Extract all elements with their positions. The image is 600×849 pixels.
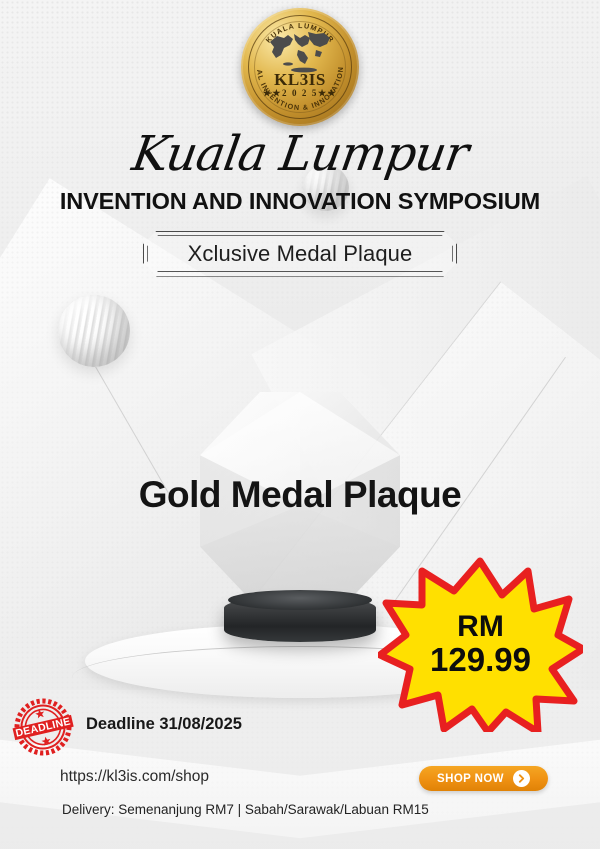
price-amount: 129.99 [430,643,531,678]
deadline-stamp-icon: DEADLINE [10,697,76,757]
script-title: Kuala Lumpur [0,132,600,178]
plaque-base [224,596,376,642]
price-currency: RM [457,612,504,642]
plaque-base-top [228,590,372,610]
chevron-right-icon [513,770,530,787]
shop-now-button[interactable]: SHOP NOW [419,766,548,791]
promotional-poster: KUALA LUMPUR INTERNATIONAL INVENTION & I… [0,0,600,849]
poster-header: KUALA LUMPUR INTERNATIONAL INVENTION & I… [0,0,600,277]
decorative-sphere-left [58,295,130,367]
logo-year: ★★2 0 2 5★★ [241,88,359,99]
main-heading: INVENTION AND INNOVATION SYMPOSIUM [0,188,600,215]
crystal-plaque-product [190,392,410,642]
shop-url[interactable]: https://kl3is.com/shop [60,768,209,786]
subtitle-badge-label: Xclusive Medal Plaque [188,241,413,266]
subtitle-badge: Xclusive Medal Plaque [143,231,458,277]
deadline-stamp-shape: DEADLINE [10,697,76,757]
product-title: Gold Medal Plaque [0,474,600,516]
shop-now-label: SHOP NOW [437,773,504,785]
deadline-label: Deadline 31/08/2025 [86,715,242,734]
price-text-group: RM 129.99 [378,557,583,732]
logo-acronym: KL3IS [241,70,359,90]
delivery-info: Delivery: Semenanjung RM7 | Sabah/Sarawa… [62,802,429,817]
price-starburst-badge: RM 129.99 [378,557,583,732]
logo-medallion: KUALA LUMPUR INTERNATIONAL INVENTION & I… [241,8,359,126]
